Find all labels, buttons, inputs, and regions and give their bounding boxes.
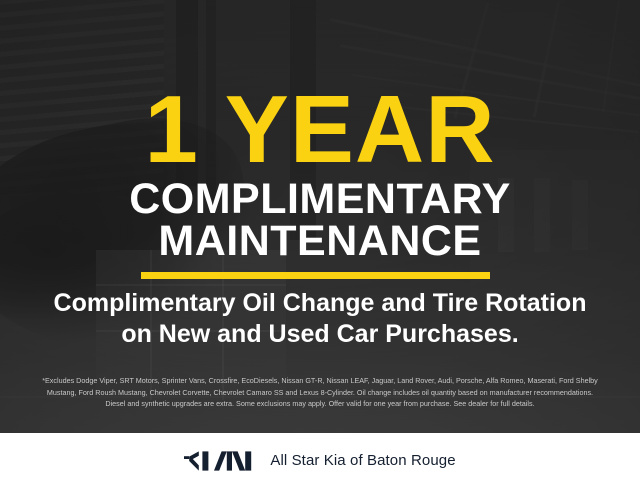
hero-text-stack: 1 YEAR COMPLIMENTARY MAINTENANCE Complim… xyxy=(0,0,640,433)
footer-branding: All Star Kia of Baton Rouge xyxy=(184,450,455,472)
offer-line-2: on New and Used Car Purchases. xyxy=(0,319,640,350)
offer-line-1: Complimentary Oil Change and Tire Rotati… xyxy=(0,288,640,319)
subtitle-line-2: MAINTENANCE xyxy=(0,220,640,263)
accent-divider xyxy=(141,272,490,279)
disclaimer-text: *Excludes Dodge Viper, SRT Motors, Sprin… xyxy=(14,375,626,410)
footer-bar: All Star Kia of Baton Rouge xyxy=(0,433,640,488)
dealer-name: All Star Kia of Baton Rouge xyxy=(270,452,455,469)
page-title: 1 YEAR xyxy=(0,82,640,178)
offer-description: Complimentary Oil Change and Tire Rotati… xyxy=(0,288,640,350)
subtitle-line-1: COMPLIMENTARY xyxy=(0,178,640,221)
kia-wordmark-logo xyxy=(184,450,252,472)
disclaimer-line-3: Diesel and synthetic upgrades are extra.… xyxy=(14,398,626,410)
disclaimer-line-2: Mustang, Ford Roush Mustang, Chevrolet C… xyxy=(14,387,626,399)
disclaimer-line-1: *Excludes Dodge Viper, SRT Motors, Sprin… xyxy=(14,375,626,387)
promotional-banner: 1 YEAR COMPLIMENTARY MAINTENANCE Complim… xyxy=(0,0,640,488)
